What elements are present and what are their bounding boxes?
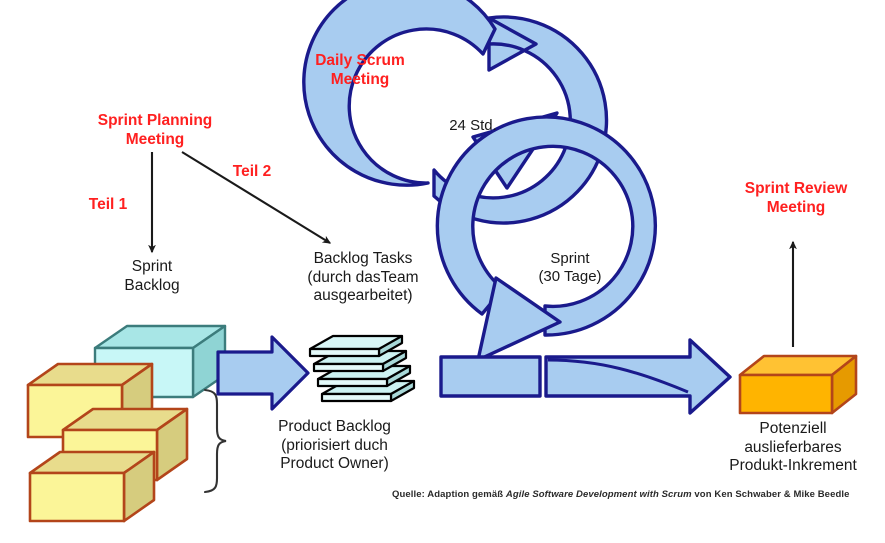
label-product-backlog: Product Backlog (priorisiert duch Produc… — [232, 418, 437, 474]
backlog-tasks-cards — [310, 336, 414, 401]
sprint-cycle-arrow — [437, 72, 689, 360]
backlog-to-tasks-arrow — [218, 337, 308, 409]
source-attribution: Quelle: Adaption gemäß Agile Software De… — [392, 489, 849, 500]
source-prefix: Quelle: Adaption gemäß — [392, 489, 506, 500]
label-sprint-backlog: Sprint Backlog — [92, 258, 212, 295]
label-sprint-review-meeting: Sprint Review Meeting — [716, 180, 876, 217]
source-book-title: Agile Software Development with Scrum — [506, 489, 692, 500]
source-suffix: von Ken Schwaber & Mike Beedle — [692, 489, 850, 500]
label-sprint-planning-meeting: Sprint Planning Meeting — [70, 112, 240, 149]
scrum-diagram-canvas: Sprint Planning Meeting Daily Scrum Meet… — [0, 0, 885, 543]
label-product-increment: Potenziell auslieferbares Produkt-Inkrem… — [700, 420, 885, 476]
product-backlog-brace — [205, 390, 226, 492]
sprint-loop-tail-band — [441, 357, 540, 396]
label-teil-2: Teil 2 — [222, 163, 282, 182]
label-teil-1: Teil 1 — [78, 196, 138, 215]
product-increment-block — [740, 356, 856, 413]
label-sprint-duration: Sprint (30 Tage) — [505, 250, 635, 286]
label-backlog-tasks: Backlog Tasks (durch dasTeam ausgearbeit… — [268, 250, 458, 306]
label-daily-cycle-duration: 24 Std. — [418, 117, 528, 135]
label-daily-scrum-meeting: Daily Scrum Meeting — [280, 52, 440, 89]
sprint-to-increment-arrow — [546, 340, 730, 413]
